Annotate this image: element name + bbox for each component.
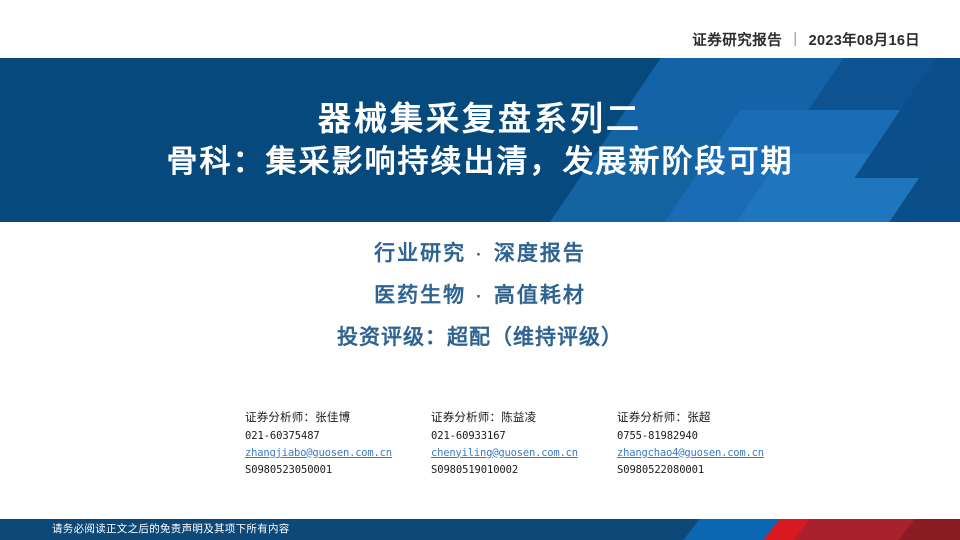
page-subtitle: 骨科：集采影响持续出清，发展新阶段可期 — [167, 143, 794, 182]
report-type-label: 证券研究报告 — [692, 29, 782, 50]
meta-sector-pharma: 医药生物 — [374, 284, 466, 307]
analyst-license-code: S0980522080001 — [617, 462, 803, 479]
analyst-license-code: S0980523050001 — [245, 462, 431, 479]
analyst-list: 证券分析师：张佳博 021-60375487 zhangjiabo@guosen… — [245, 409, 845, 479]
meta-line-research-type: 行业研究·深度报告 — [0, 243, 960, 264]
page-title: 器械集采复盘系列二 — [318, 98, 642, 139]
report-meta: 行业研究·深度报告 医药生物·高值耗材 投资评级：超配（维持评级） — [0, 243, 960, 348]
meta-industry-research: 行业研究 — [374, 242, 466, 265]
footer-disclaimer: 请务必阅读正文之后的免责声明及其项下所有内容 — [52, 519, 290, 540]
title-banner: 器械集采复盘系列二 骨科：集采影响持续出清，发展新阶段可期 — [0, 58, 960, 222]
investment-rating: 投资评级：超配（维持评级） — [0, 327, 960, 348]
analyst-email-link[interactable]: zhangchao4@guosen.com.cn — [617, 445, 764, 462]
slide-root: 证券研究报告 | 2023年08月16日 器械集采复盘系列二 骨科：集采影响持续… — [0, 0, 960, 540]
meta-separator-2: · — [466, 288, 494, 305]
footer-bar: 请务必阅读正文之后的免责声明及其项下所有内容 — [0, 519, 960, 540]
analyst-entry: 证券分析师：张佳博 021-60375487 zhangjiabo@guosen… — [245, 409, 431, 479]
meta-line-sector: 医药生物·高值耗材 — [0, 285, 960, 306]
meta-sector-consumables: 高值耗材 — [494, 284, 586, 307]
analyst-name: 证券分析师：张超 — [617, 409, 803, 428]
report-date: 2023年08月16日 — [809, 29, 920, 50]
header-divider: | — [793, 30, 797, 47]
analyst-entry: 证券分析师：张超 0755-81982940 zhangchao4@guosen… — [617, 409, 803, 479]
meta-depth-report: 深度报告 — [494, 242, 586, 265]
analyst-entry: 证券分析师：陈益凌 021-60933167 chenyiling@guosen… — [431, 409, 617, 479]
meta-separator-1: · — [466, 246, 494, 263]
analyst-email-link[interactable]: chenyiling@guosen.com.cn — [431, 445, 578, 462]
banner-text-group: 器械集采复盘系列二 骨科：集采影响持续出清，发展新阶段可期 — [0, 58, 960, 222]
analyst-name: 证券分析师：张佳博 — [245, 409, 431, 428]
analyst-phone: 021-60375487 — [245, 428, 431, 445]
report-header: 证券研究报告 | 2023年08月16日 — [692, 29, 920, 50]
analyst-email-link[interactable]: zhangjiabo@guosen.com.cn — [245, 445, 392, 462]
analyst-license-code: S0980519010002 — [431, 462, 617, 479]
analyst-phone: 0755-81982940 — [617, 428, 803, 445]
analyst-name: 证券分析师：陈益凌 — [431, 409, 617, 428]
analyst-phone: 021-60933167 — [431, 428, 617, 445]
